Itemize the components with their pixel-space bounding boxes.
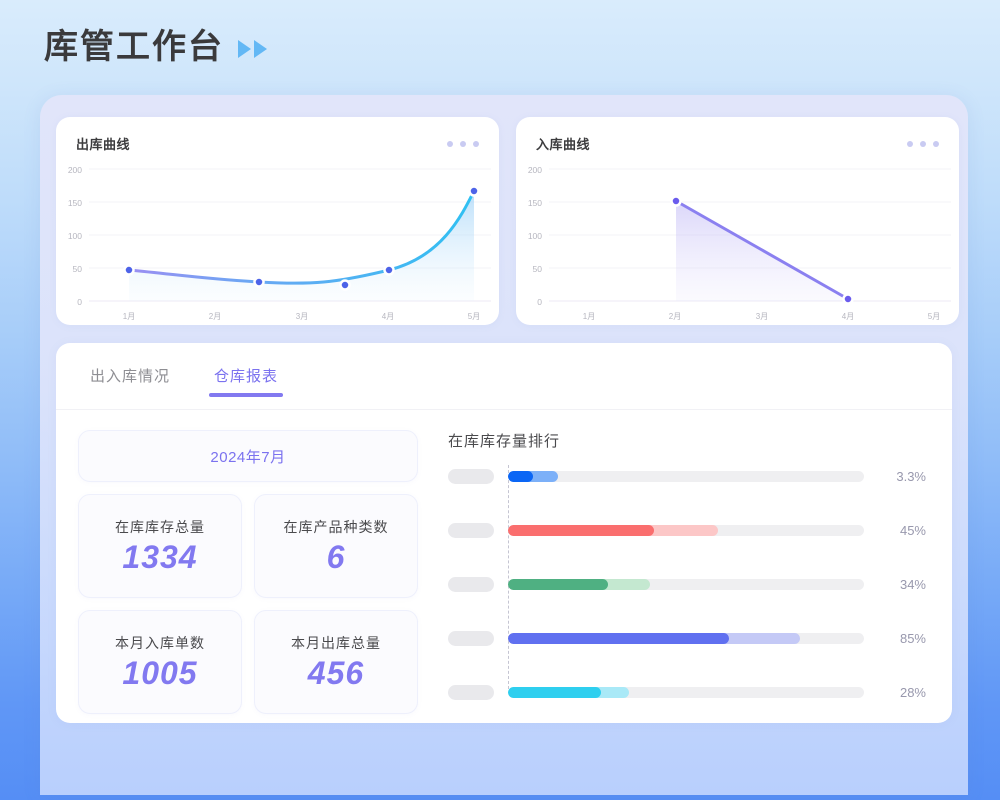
- ranking-bar-track: [508, 687, 864, 698]
- ranking-bar-track: [508, 525, 864, 536]
- ranking-bar-track: [508, 471, 864, 482]
- month-selector[interactable]: 2024年7月: [78, 430, 418, 482]
- outbound-chart-title: 出库曲线: [76, 134, 130, 153]
- charts-row: 出库曲线: [56, 117, 959, 325]
- play-triangle-icon: [238, 40, 251, 58]
- inbound-chart-title: 入库曲线: [536, 134, 590, 153]
- ranking-bar-solid: [508, 633, 729, 644]
- ranking-title: 在库库存量排行: [448, 430, 926, 451]
- ranking-bar-solid: [508, 471, 533, 482]
- report-card: 出入库情况 仓库报表 2024年7月 在库库存总量 1334 在库产品种类数 6: [56, 343, 952, 723]
- page-title: 库管工作台: [44, 30, 224, 64]
- svg-text:150: 150: [68, 198, 82, 208]
- stat-grid: 在库库存总量 1334 在库产品种类数 6 本月入库单数 1005 本月出库总量…: [78, 494, 418, 714]
- svg-text:50: 50: [533, 264, 543, 274]
- svg-text:3月: 3月: [756, 312, 768, 321]
- ranking-percent: 3.3%: [874, 469, 926, 484]
- stat-value: 456: [308, 655, 364, 692]
- ranking-row[interactable]: 45%: [448, 523, 926, 537]
- ranking-row[interactable]: 28%: [448, 685, 926, 699]
- svg-text:50: 50: [73, 264, 83, 274]
- ranking-rows: 3.3% 45%: [448, 469, 926, 699]
- stat-label: 本月出库总量: [291, 633, 381, 653]
- svg-text:0: 0: [537, 297, 542, 307]
- svg-text:4月: 4月: [382, 312, 394, 321]
- outbound-chart-header: 出库曲线: [56, 117, 499, 153]
- ranking-percent: 85%: [874, 631, 926, 646]
- outbound-chart-plot: 200 150 100 50 0 1月: [56, 157, 499, 325]
- stat-value: 1334: [122, 539, 197, 576]
- svg-text:5月: 5月: [468, 312, 480, 321]
- more-dots-icon[interactable]: [907, 141, 939, 147]
- ranking-bar-solid: [508, 687, 601, 698]
- svg-text:1月: 1月: [583, 312, 595, 321]
- ranking-row[interactable]: 3.3%: [448, 469, 926, 483]
- svg-text:5月: 5月: [928, 312, 940, 321]
- svg-text:200: 200: [68, 165, 82, 175]
- stat-value: 6: [327, 539, 346, 576]
- inbound-chart-header: 入库曲线: [516, 117, 959, 153]
- ranking-bar-solid: [508, 579, 608, 590]
- stat-value: 1005: [122, 655, 197, 692]
- svg-text:200: 200: [528, 165, 542, 175]
- stat-card-total-stock[interactable]: 在库库存总量 1334: [78, 494, 242, 598]
- ranking-bar-track: [508, 633, 864, 644]
- stat-card-outbound-total[interactable]: 本月出库总量 456: [254, 610, 418, 714]
- ranking-baseline: [508, 465, 509, 689]
- stats-column: 2024年7月 在库库存总量 1334 在库产品种类数 6 本月入库单数 100…: [78, 430, 418, 723]
- svg-text:100: 100: [528, 231, 542, 241]
- ranking-bar-solid: [508, 525, 654, 536]
- stat-card-inbound-orders[interactable]: 本月入库单数 1005: [78, 610, 242, 714]
- ranking-percent: 45%: [874, 523, 926, 538]
- svg-text:3月: 3月: [296, 312, 308, 321]
- play-triangle-icon: [254, 40, 267, 58]
- svg-text:100: 100: [68, 231, 82, 241]
- ranking-bar-track: [508, 579, 864, 590]
- svg-text:2月: 2月: [669, 312, 681, 321]
- header-arrows: [238, 40, 267, 58]
- ranking-label-placeholder: [448, 469, 494, 484]
- outbound-chart-card: 出库曲线: [56, 117, 499, 325]
- dashboard-panel: 出库曲线: [40, 95, 968, 795]
- stat-label: 在库产品种类数: [284, 517, 389, 537]
- ranking-label-placeholder: [448, 577, 494, 592]
- svg-text:2月: 2月: [209, 312, 221, 321]
- inbound-chart-card: 入库曲线 200 150: [516, 117, 959, 325]
- tab-inbound-outbound[interactable]: 出入库情况: [90, 365, 170, 397]
- ranking-percent: 28%: [874, 685, 926, 700]
- report-content: 2024年7月 在库库存总量 1334 在库产品种类数 6 本月入库单数 100…: [56, 410, 952, 723]
- ranking-section: 在库库存量排行 3.3%: [434, 430, 926, 723]
- month-label: 2024年7月: [210, 446, 285, 467]
- inbound-chart-plot: 200 150 100 50 0 1月 2月 3月 4月 5月: [516, 157, 959, 325]
- ranking-label-placeholder: [448, 523, 494, 538]
- ranking-row[interactable]: 85%: [448, 631, 926, 645]
- stat-label: 本月入库单数: [115, 633, 205, 653]
- stat-card-product-types[interactable]: 在库产品种类数 6: [254, 494, 418, 598]
- ranking-row[interactable]: 34%: [448, 577, 926, 591]
- report-tabs: 出入库情况 仓库报表: [56, 343, 952, 397]
- tab-warehouse-report[interactable]: 仓库报表: [214, 365, 278, 397]
- ranking-percent: 34%: [874, 577, 926, 592]
- page-header: 库管工作台: [44, 30, 267, 64]
- stat-label: 在库库存总量: [115, 517, 205, 537]
- svg-text:0: 0: [77, 297, 82, 307]
- svg-text:150: 150: [528, 198, 542, 208]
- ranking-label-placeholder: [448, 631, 494, 646]
- ranking-label-placeholder: [448, 685, 494, 700]
- svg-text:1月: 1月: [123, 312, 135, 321]
- more-dots-icon[interactable]: [447, 141, 479, 147]
- svg-text:4月: 4月: [842, 312, 854, 321]
